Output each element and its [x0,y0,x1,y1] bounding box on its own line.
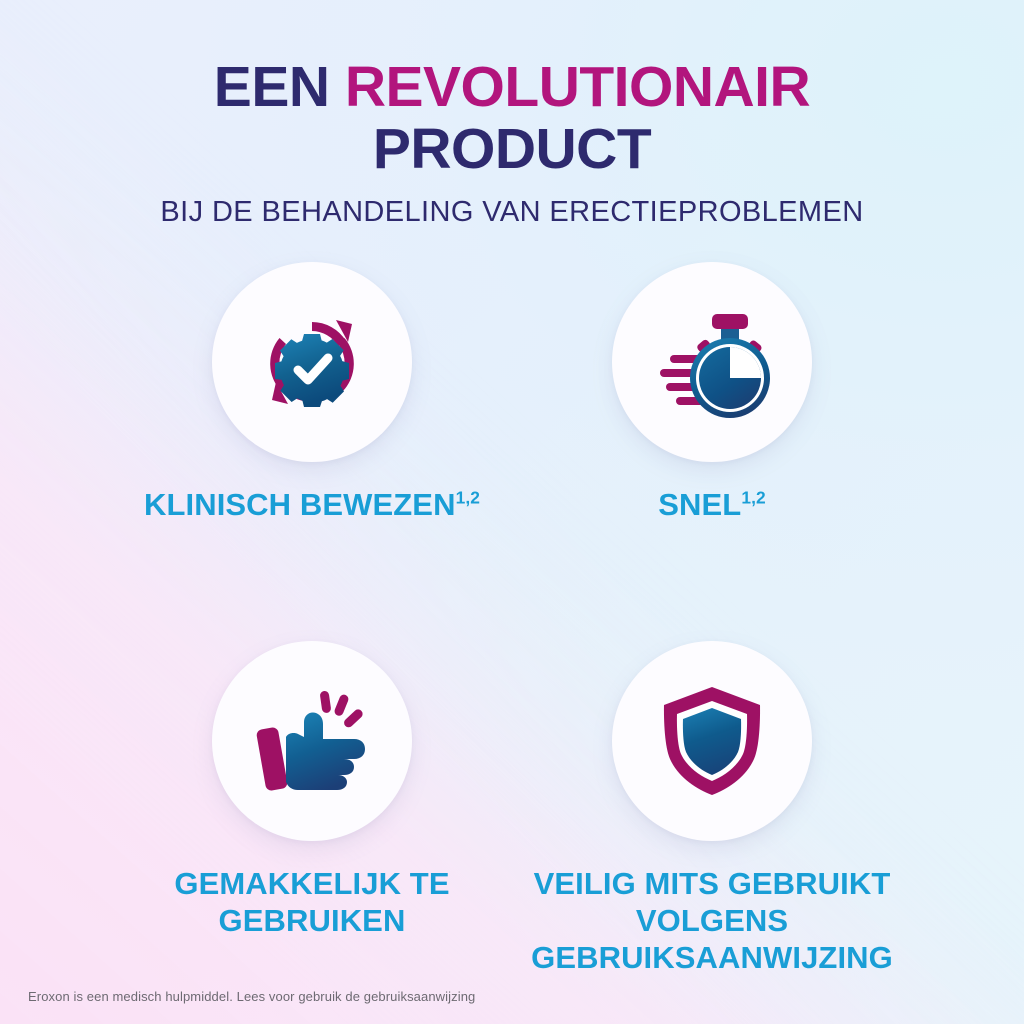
icon-badge-easy-to-use [212,641,412,841]
feature-label-safe: VEILIG MITS GEBRUIKT VOLGENS GEBRUIKSAAN… [512,865,912,976]
icon-badge-safe [612,641,812,841]
feature-label-text: SNEL [658,487,741,522]
feature-reference-marker: 1,2 [741,488,765,508]
page-subtitle: BIJ DE BEHANDELING VAN ERECTIEPROBLEMEN [0,196,1024,228]
pointing-hand-icon [248,677,376,805]
promo-poster: EEN REVOLUTIONAIR PRODUCT BIJ DE BEHANDE… [0,0,1024,1024]
feature-label-text: VEILIG MITS GEBRUIKT VOLGENS GEBRUIKSAAN… [531,866,893,975]
feature-grid: KLINISCH BEWEZEN1,2 [112,228,912,976]
stopwatch-icon [648,298,776,426]
header: EEN REVOLUTIONAIR PRODUCT BIJ DE BEHANDE… [0,0,1024,228]
feature-clinically-proven: KLINISCH BEWEZEN1,2 [112,262,512,523]
title-word-een: EEN [214,55,345,119]
poster-content: EEN REVOLUTIONAIR PRODUCT BIJ DE BEHANDE… [0,0,1024,1024]
feature-label-text: KLINISCH BEWEZEN [144,487,456,522]
feature-fast: SNEL1,2 [512,262,912,523]
page-title: EEN REVOLUTIONAIR PRODUCT [0,56,1024,180]
gear-check-cycle-icon [248,298,376,426]
footer-disclaimer: Eroxon is een medisch hulpmiddel. Lees v… [28,988,475,1006]
feature-safe-when-used-as-directed: VEILIG MITS GEBRUIKT VOLGENS GEBRUIKSAAN… [512,533,912,976]
icon-badge-fast [612,262,812,462]
shield-icon [648,677,776,805]
feature-label-fast: SNEL1,2 [658,486,766,523]
feature-label-easy-to-use: GEMAKKELIJK TE GEBRUIKEN [112,865,512,939]
feature-reference-marker: 1,2 [456,488,480,508]
title-word-product: PRODUCT [373,117,651,181]
feature-easy-to-use: GEMAKKELIJK TE GEBRUIKEN [112,533,512,976]
feature-label-clinically-proven: KLINISCH BEWEZEN1,2 [144,486,480,523]
title-word-revolutionair: REVOLUTIONAIR [345,55,810,119]
icon-badge-clinically-proven [212,262,412,462]
feature-label-text: GEMAKKELIJK TE GEBRUIKEN [174,866,449,938]
